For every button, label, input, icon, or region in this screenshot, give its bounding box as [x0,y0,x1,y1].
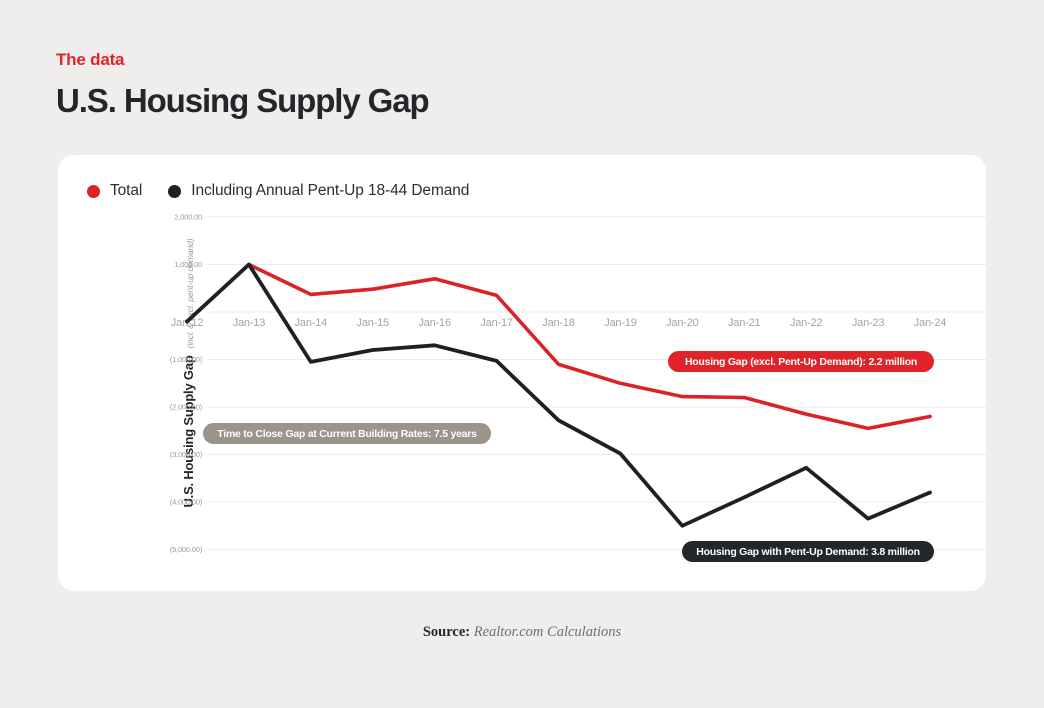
gridlines [208,217,986,550]
page-header: The data U.S. Housing Supply Gap [56,50,429,120]
y-tick-labels: 2,000.001,000.00(1,000.00)(2,000.00)(3,0… [170,213,203,555]
x-tick-label: Jan-15 [357,317,390,329]
plot-area: 2,000.001,000.00(1,000.00)(2,000.00)(3,0… [58,155,986,591]
series-line-total [187,265,930,429]
y-tick-label: (4,000.00) [170,498,203,507]
x-tick-label: Jan-22 [790,317,823,329]
chart-card: Total Including Annual Pent-Up 18-44 Dem… [58,155,986,591]
x-tick-label: Jan-23 [852,317,885,329]
y-tick-label: (3,000.00) [170,450,203,459]
x-tick-label: Jan-16 [418,317,451,329]
x-tick-label: Jan-14 [295,317,328,329]
chart-svg: 2,000.001,000.00(1,000.00)(2,000.00)(3,0… [58,155,986,591]
x-tick-label: Jan-20 [666,317,699,329]
x-tick-label: Jan-24 [914,317,947,329]
x-tick-label: Jan-13 [233,317,266,329]
series-line-pentup [187,265,930,526]
y-tick-label: 1,000.00 [174,260,202,269]
x-tick-label: Jan-17 [480,317,513,329]
x-tick-label: Jan-19 [604,317,637,329]
x-tick-label: Jan-18 [542,317,575,329]
y-tick-label: (2,000.00) [170,403,203,412]
annotation-gap-with-pentup: Housing Gap with Pent-Up Demand: 3.8 mil… [682,541,934,562]
annotation-time-to-close: Time to Close Gap at Current Building Ra… [203,423,491,444]
x-tick-label: Jan-21 [728,317,761,329]
y-tick-label: 2,000.00 [174,213,202,222]
y-tick-label: (1,000.00) [170,355,203,364]
page-title: U.S. Housing Supply Gap [56,82,429,120]
y-tick-label: (5,000.00) [170,545,203,554]
eyebrow-label: The data [56,50,429,70]
annotation-gap-excl-pentup: Housing Gap (excl. Pent-Up Demand): 2.2 … [668,351,934,372]
source-label: Source: [423,624,470,640]
source-note: Source: Realtor.com Calculations [0,624,1044,641]
source-value: Realtor.com Calculations [474,624,621,640]
